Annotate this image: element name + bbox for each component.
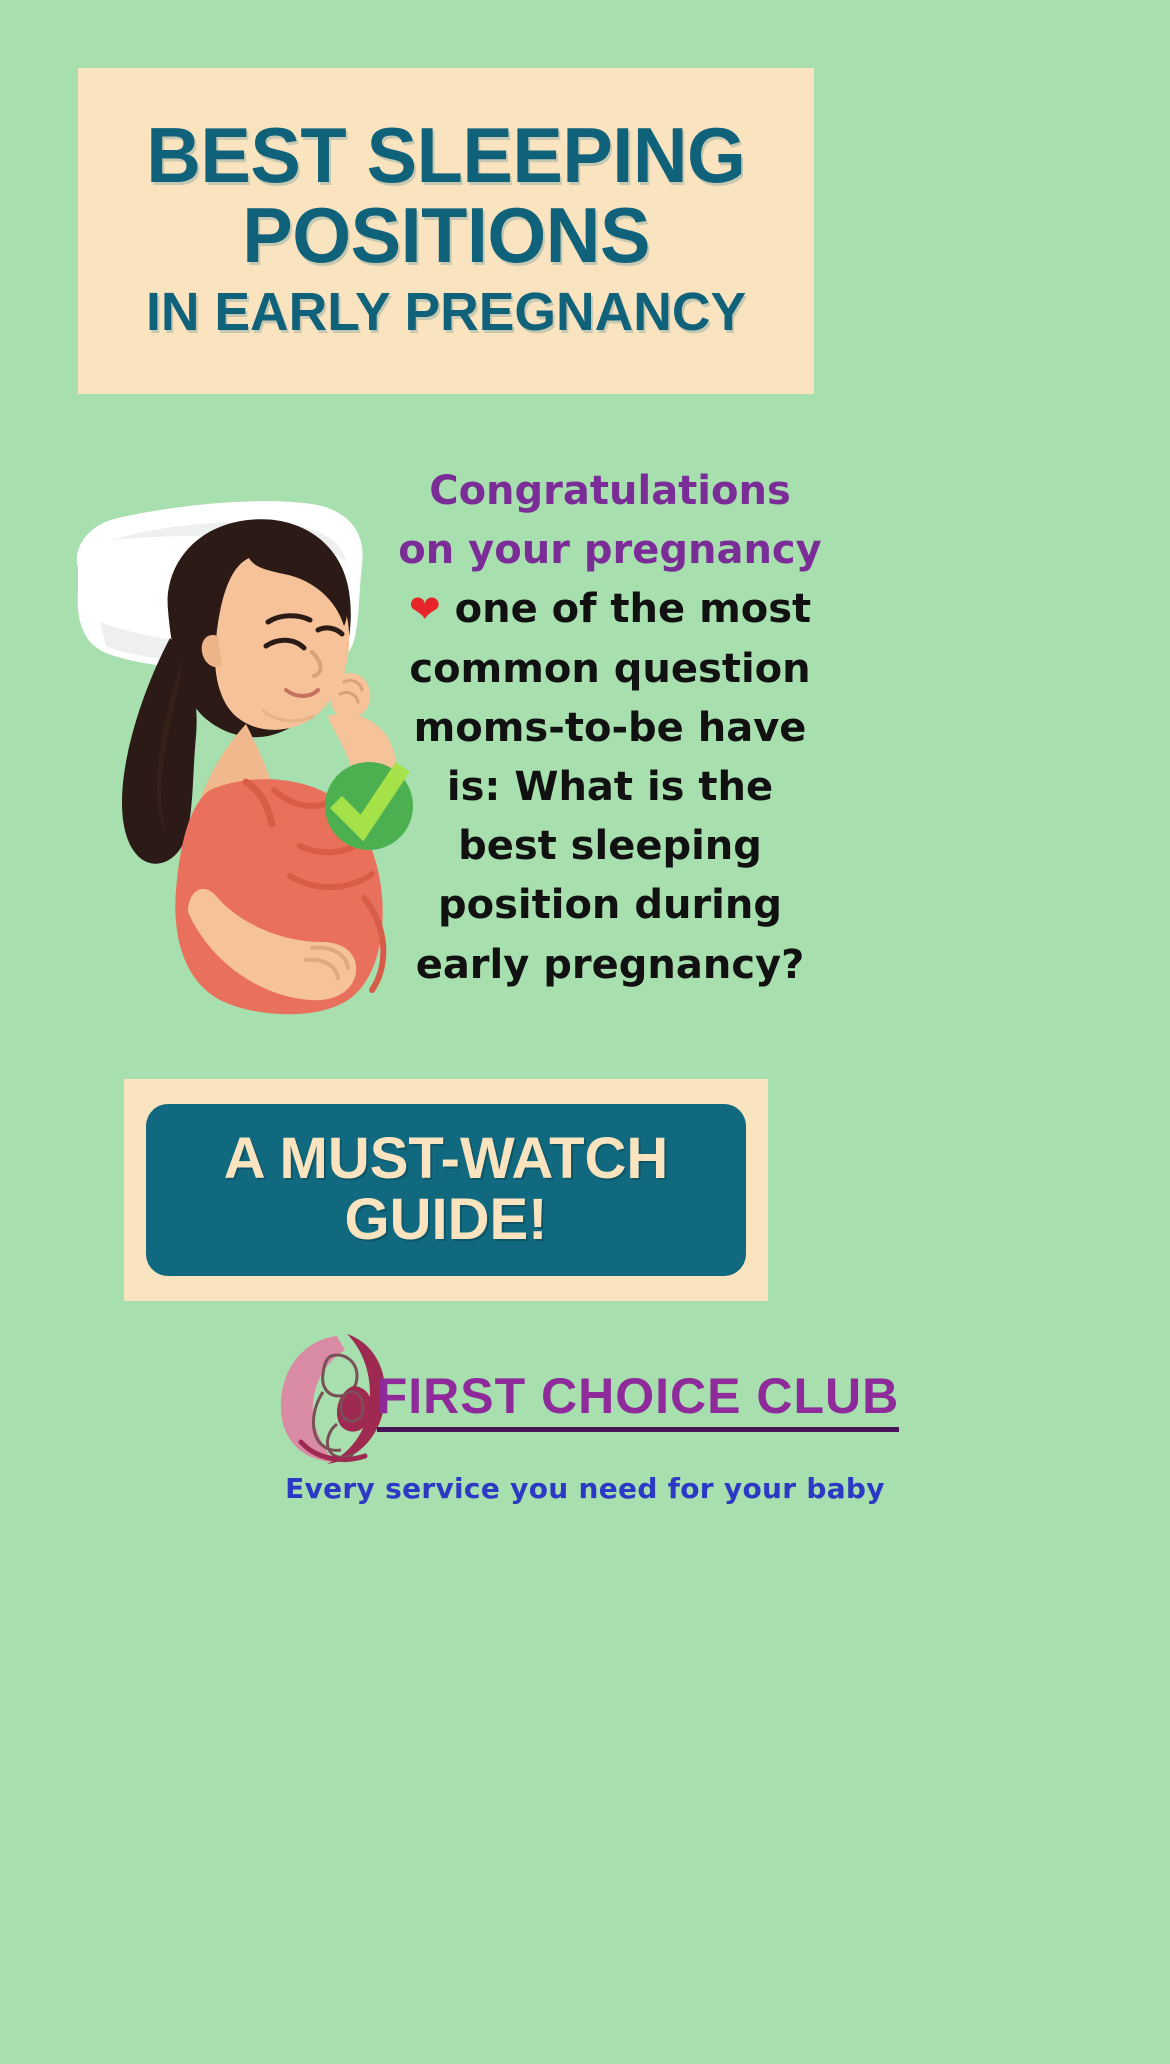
page-subtitle: IN EARLY PREGNANCY: [146, 285, 746, 339]
brand-logo-row: FIRST CHOICE CLUB: [0, 1330, 1170, 1468]
content-section: Congratulations on your pregnancy❤ one o…: [0, 430, 1170, 1050]
pregnant-woman-sleeping-illustration: [60, 460, 420, 1020]
header-banner: BEST SLEEPING POSITIONS IN EARLY PREGNAN…: [78, 68, 814, 394]
body-paragraph: Congratulations on your pregnancy❤ one o…: [396, 462, 824, 995]
footer: FIRST CHOICE CLUB Every service you need…: [0, 1330, 1170, 1560]
cta-label-line-2: GUIDE!: [345, 1190, 548, 1251]
infographic-page: { "canvas": { "background_color": "#a7df…: [0, 0, 1170, 2064]
page-title-line-1: BEST SLEEPING: [146, 117, 745, 193]
heart-icon: ❤: [409, 587, 441, 631]
body-highlight-text: Congratulations on your pregnancy: [398, 468, 821, 573]
brand-name: FIRST CHOICE CLUB: [377, 1367, 900, 1432]
body-question-text: one of the most common question moms-to-…: [409, 586, 811, 987]
cta-label-line-1: A MUST-WATCH: [224, 1129, 669, 1190]
page-title-line-2: POSITIONS: [242, 197, 650, 273]
cta-frame: A MUST-WATCH GUIDE!: [124, 1079, 768, 1301]
brand-tagline: Every service you need for your baby: [0, 1472, 1170, 1505]
must-watch-guide-button[interactable]: A MUST-WATCH GUIDE!: [146, 1104, 746, 1276]
